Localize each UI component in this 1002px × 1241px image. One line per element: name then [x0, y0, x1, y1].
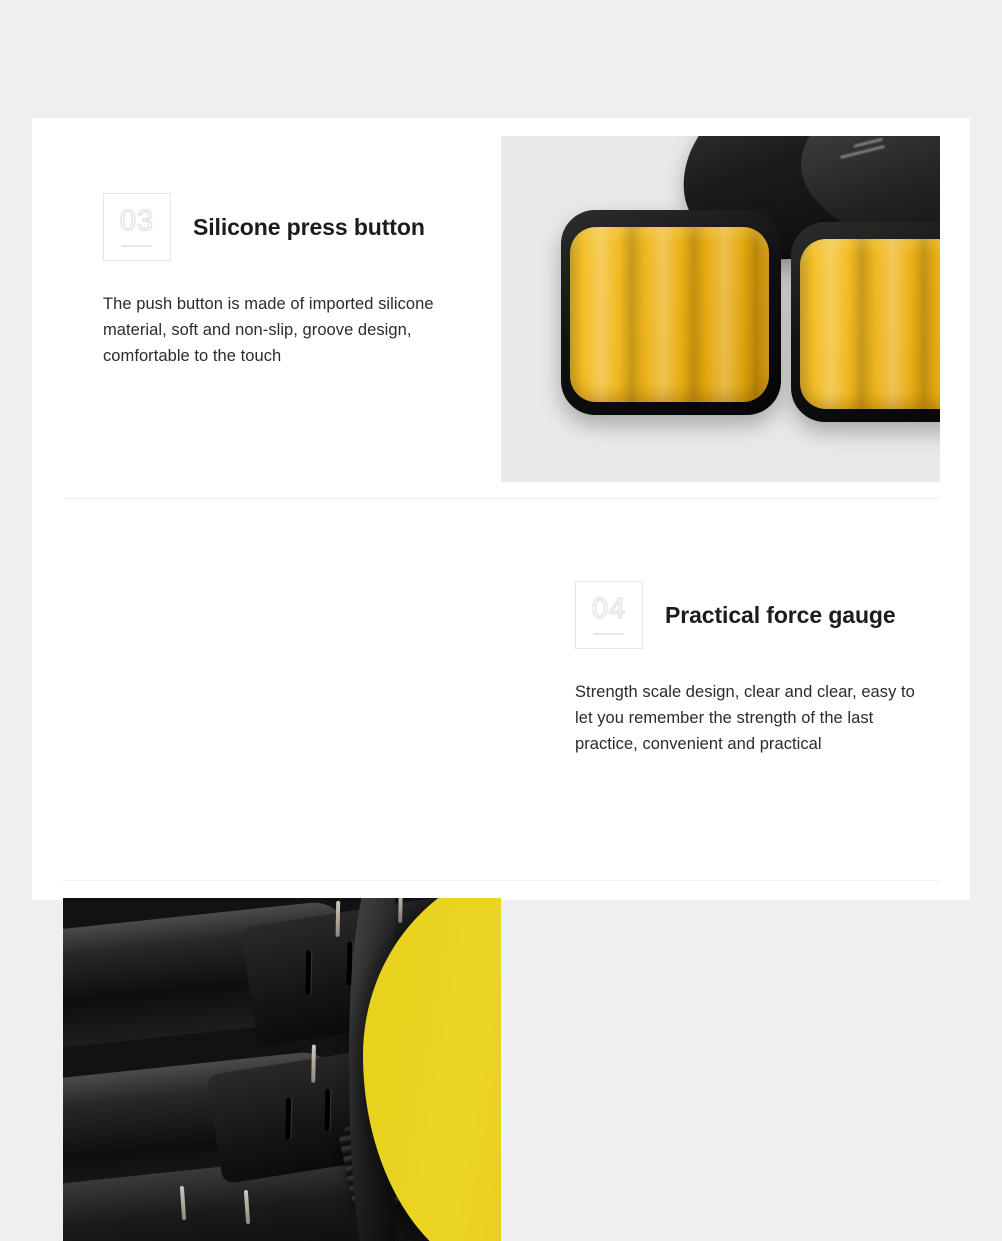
feature-section-practical-force-gauge: 04 Practical force gauge Strength scale …	[32, 499, 970, 879]
feature-text-column-03: 03 Silicone press button The push button…	[103, 193, 473, 369]
badge-underline-rule	[122, 245, 152, 247]
pad-silicone-face-grooved	[800, 239, 940, 409]
scale-tick	[336, 901, 341, 937]
scale-groove	[305, 950, 311, 994]
feature-title-04: Practical force gauge	[665, 602, 896, 629]
feature-body-03: The push button is made of imported sili…	[103, 291, 473, 369]
feature-section-silicone-press-button: 03 Silicone press button The push button…	[32, 118, 970, 498]
scale-groove	[285, 1097, 291, 1139]
badge-underline-rule	[594, 633, 624, 635]
feature-body-04: Strength scale design, clear and clear, …	[575, 679, 935, 757]
scale-tick	[311, 1045, 316, 1083]
embossed-marking	[840, 145, 885, 159]
silicone-pad-right	[791, 222, 940, 422]
silicone-pad-left	[561, 210, 781, 415]
photo-force-gauge	[63, 898, 501, 1241]
scale-tick	[398, 898, 403, 923]
scale-groove	[325, 1089, 331, 1131]
feature-heading-row-04: 04 Practical force gauge	[575, 581, 935, 649]
feature-number-03: 03	[120, 207, 154, 236]
pad-silicone-face-grooved	[570, 227, 769, 402]
feature-text-column-04: 04 Practical force gauge Strength scale …	[575, 581, 935, 757]
section-divider-bottom	[63, 880, 939, 881]
feature-number-badge-04: 04	[575, 581, 643, 649]
feature-title-03: Silicone press button	[193, 214, 425, 241]
photo-silicone-press-button	[501, 136, 940, 482]
feature-heading-row-03: 03 Silicone press button	[103, 193, 473, 261]
feature-number-04: 04	[592, 595, 626, 624]
feature-number-badge-03: 03	[103, 193, 171, 261]
product-feature-card: 03 Silicone press button The push button…	[32, 118, 970, 900]
